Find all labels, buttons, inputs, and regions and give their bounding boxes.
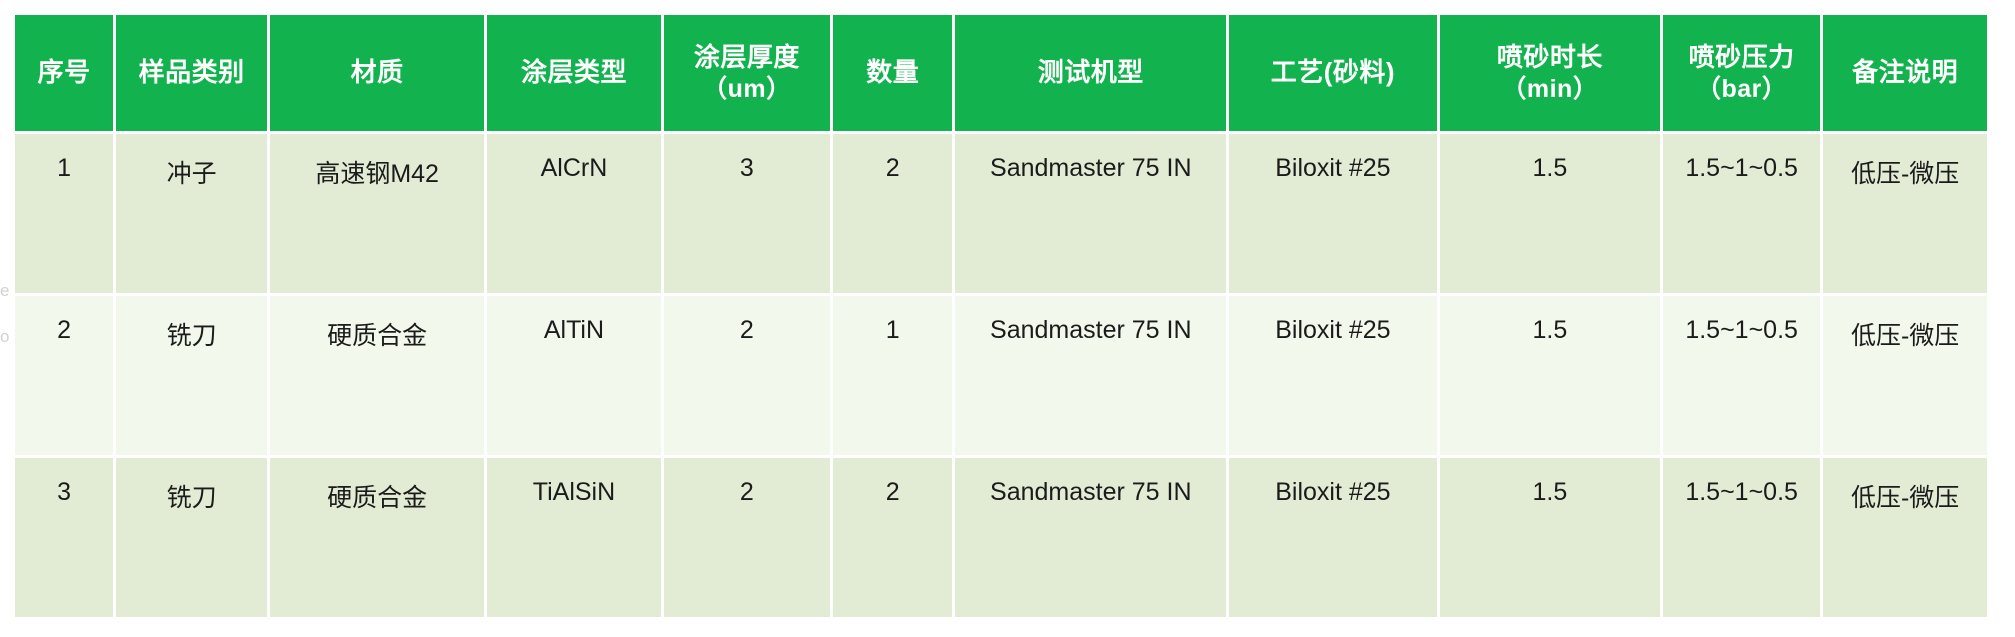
column-header-blast-pressure-label: 喷砂压力 [1689, 42, 1795, 72]
cell-remark: 低压-微压 [1823, 296, 1987, 455]
column-header-index-label: 序号 [38, 57, 91, 87]
column-header-test-machine-label: 测试机型 [1038, 57, 1144, 87]
column-header-process-media: 工艺(砂料) [1229, 15, 1437, 131]
column-header-process-media-label: 工艺(砂料) [1271, 57, 1395, 87]
column-header-material: 材质 [270, 15, 484, 131]
cell-coating-thickness: 3 [664, 134, 830, 293]
cell-test-machine: Sandmaster 75 IN [955, 458, 1226, 617]
column-header-test-machine: 测试机型 [955, 15, 1226, 131]
sample-blasting-table-container: 序号 样品类别 材质 涂层类型 涂层厚度 （um） 数量 [12, 12, 1990, 625]
cell-quantity: 2 [833, 134, 953, 293]
cell-blast-time: 1.5 [1440, 296, 1660, 455]
cell-coating-thickness: 2 [664, 296, 830, 455]
column-header-coating-type: 涂层类型 [487, 15, 661, 131]
column-header-sample-type: 样品类别 [116, 15, 267, 131]
column-header-coating-thickness: 涂层厚度 （um） [664, 15, 830, 131]
cell-coating-type: TiAlSiN [487, 458, 661, 617]
cell-index: 2 [15, 296, 113, 455]
column-header-blast-time-unit: （min） [1442, 74, 1658, 105]
column-header-blast-time-label: 喷砂时长 [1497, 42, 1603, 72]
column-header-coating-thickness-label: 涂层厚度 [694, 42, 800, 72]
column-header-coating-thickness-unit: （um） [666, 74, 828, 105]
cell-process-media: Biloxit #25 [1229, 134, 1437, 293]
column-header-blast-pressure-unit: （bar） [1665, 74, 1818, 105]
cell-sample-type: 铣刀 [116, 296, 267, 455]
cell-quantity: 1 [833, 296, 953, 455]
table-header: 序号 样品类别 材质 涂层类型 涂层厚度 （um） 数量 [15, 15, 1987, 131]
cell-blast-time: 1.5 [1440, 134, 1660, 293]
edge-glyph-1: e [0, 268, 10, 314]
cell-coating-type: AlTiN [487, 296, 661, 455]
column-header-material-label: 材质 [351, 57, 404, 87]
cell-material: 硬质合金 [270, 296, 484, 455]
cell-process-media: Biloxit #25 [1229, 458, 1437, 617]
cell-material: 硬质合金 [270, 458, 484, 617]
table-body: 1 冲子 高速钢M42 AlCrN 3 2 Sandmaster 75 IN B… [15, 134, 1987, 617]
cell-sample-type: 冲子 [116, 134, 267, 293]
column-header-coating-type-label: 涂层类型 [521, 57, 627, 87]
sample-blasting-table: 序号 样品类别 材质 涂层类型 涂层厚度 （um） 数量 [12, 12, 1990, 620]
column-header-quantity-label: 数量 [866, 57, 919, 87]
cell-coating-thickness: 2 [664, 458, 830, 617]
cell-material: 高速钢M42 [270, 134, 484, 293]
cell-coating-type: AlCrN [487, 134, 661, 293]
table-row: 1 冲子 高速钢M42 AlCrN 3 2 Sandmaster 75 IN B… [15, 134, 1987, 293]
cell-blast-pressure: 1.5~1~0.5 [1663, 458, 1820, 617]
edge-glyph-2: o [0, 314, 10, 360]
table-row: 3 铣刀 硬质合金 TiAlSiN 2 2 Sandmaster 75 IN B… [15, 458, 1987, 617]
column-header-index: 序号 [15, 15, 113, 131]
column-header-remark-label: 备注说明 [1852, 57, 1958, 87]
column-header-blast-pressure: 喷砂压力 （bar） [1663, 15, 1820, 131]
cell-blast-pressure: 1.5~1~0.5 [1663, 134, 1820, 293]
column-header-remark: 备注说明 [1823, 15, 1987, 131]
column-header-sample-type-label: 样品类别 [139, 57, 245, 87]
column-header-quantity: 数量 [833, 15, 953, 131]
column-header-blast-time: 喷砂时长 （min） [1440, 15, 1660, 131]
cell-test-machine: Sandmaster 75 IN [955, 134, 1226, 293]
cell-process-media: Biloxit #25 [1229, 296, 1437, 455]
cell-remark: 低压-微压 [1823, 134, 1987, 293]
edge-glyph-artifacts: e o [0, 268, 10, 378]
cell-index: 1 [15, 134, 113, 293]
cell-blast-time: 1.5 [1440, 458, 1660, 617]
cell-sample-type: 铣刀 [116, 458, 267, 617]
header-row: 序号 样品类别 材质 涂层类型 涂层厚度 （um） 数量 [15, 15, 1987, 131]
cell-quantity: 2 [833, 458, 953, 617]
cell-remark: 低压-微压 [1823, 458, 1987, 617]
cell-test-machine: Sandmaster 75 IN [955, 296, 1226, 455]
cell-blast-pressure: 1.5~1~0.5 [1663, 296, 1820, 455]
cell-index: 3 [15, 458, 113, 617]
table-row: 2 铣刀 硬质合金 AlTiN 2 1 Sandmaster 75 IN Bil… [15, 296, 1987, 455]
